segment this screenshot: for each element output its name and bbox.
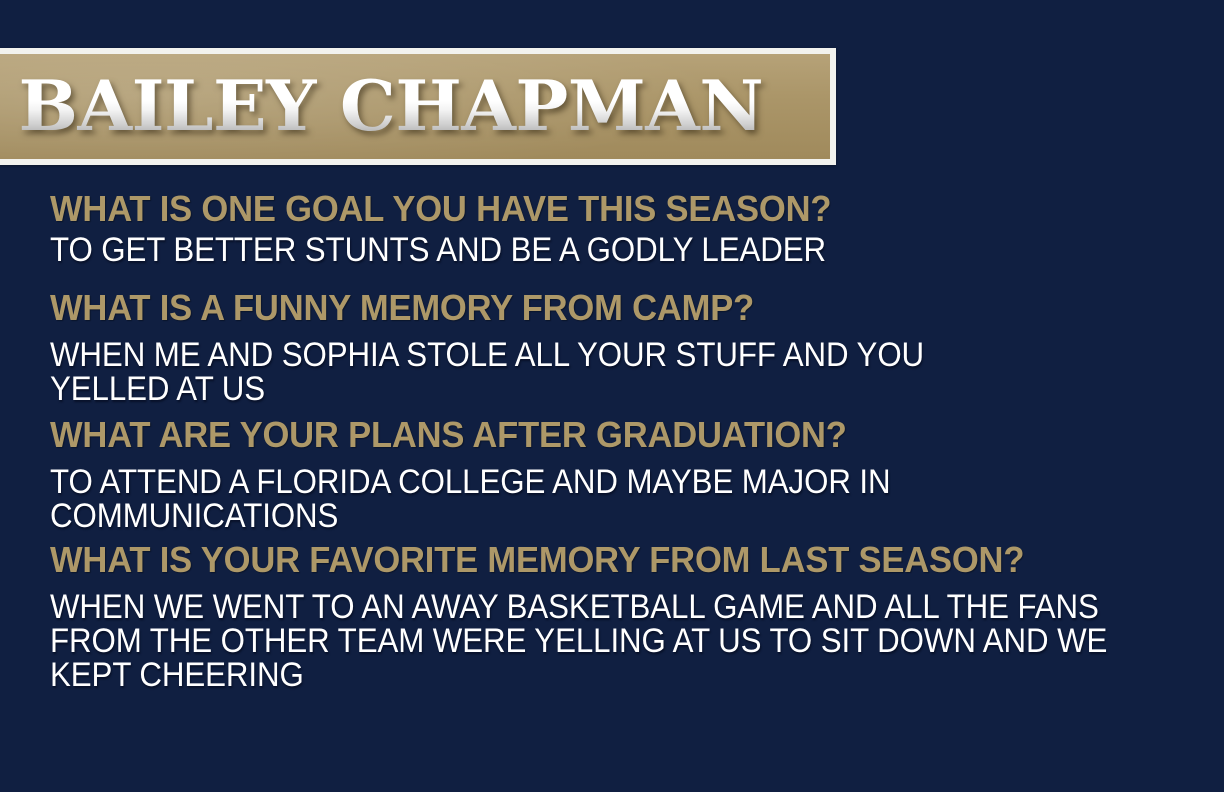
- athlete-profile-slide: BAILEY CHAPMAN WHAT IS ONE GOAL YOU HAVE…: [0, 0, 1224, 792]
- qa-question: WHAT ARE YOUR PLANS AFTER GRADUATION?: [50, 416, 1166, 455]
- qa-block: WHAT IS A FUNNY MEMORY FROM CAMP? WHEN M…: [50, 289, 1212, 406]
- qa-block: WHAT IS ONE GOAL YOU HAVE THIS SEASON? T…: [50, 190, 1212, 267]
- qa-list: WHAT IS ONE GOAL YOU HAVE THIS SEASON? T…: [50, 190, 1212, 692]
- qa-answer: WHEN ME AND SOPHIA STOLE ALL YOUR STUFF …: [50, 338, 1042, 406]
- qa-answer: WHEN WE WENT TO AN AWAY BASKETBALL GAME …: [50, 590, 1119, 692]
- qa-answer: TO ATTEND A FLORIDA COLLEGE AND MAYBE MA…: [50, 465, 1007, 533]
- athlete-name: BAILEY CHAPMAN: [0, 72, 763, 141]
- athlete-name-banner-fill: BAILEY CHAPMAN: [0, 54, 830, 159]
- qa-answer: TO GET BETTER STUNTS AND BE A GODLY LEAD…: [50, 233, 933, 267]
- athlete-name-banner: BAILEY CHAPMAN: [0, 48, 836, 165]
- qa-block: WHAT ARE YOUR PLANS AFTER GRADUATION? TO…: [50, 416, 1212, 533]
- qa-question: WHAT IS YOUR FAVORITE MEMORY FROM LAST S…: [50, 541, 1166, 580]
- qa-question: WHAT IS A FUNNY MEMORY FROM CAMP?: [50, 289, 1166, 328]
- qa-block: WHAT IS YOUR FAVORITE MEMORY FROM LAST S…: [50, 541, 1212, 692]
- qa-question: WHAT IS ONE GOAL YOU HAVE THIS SEASON?: [50, 190, 1166, 229]
